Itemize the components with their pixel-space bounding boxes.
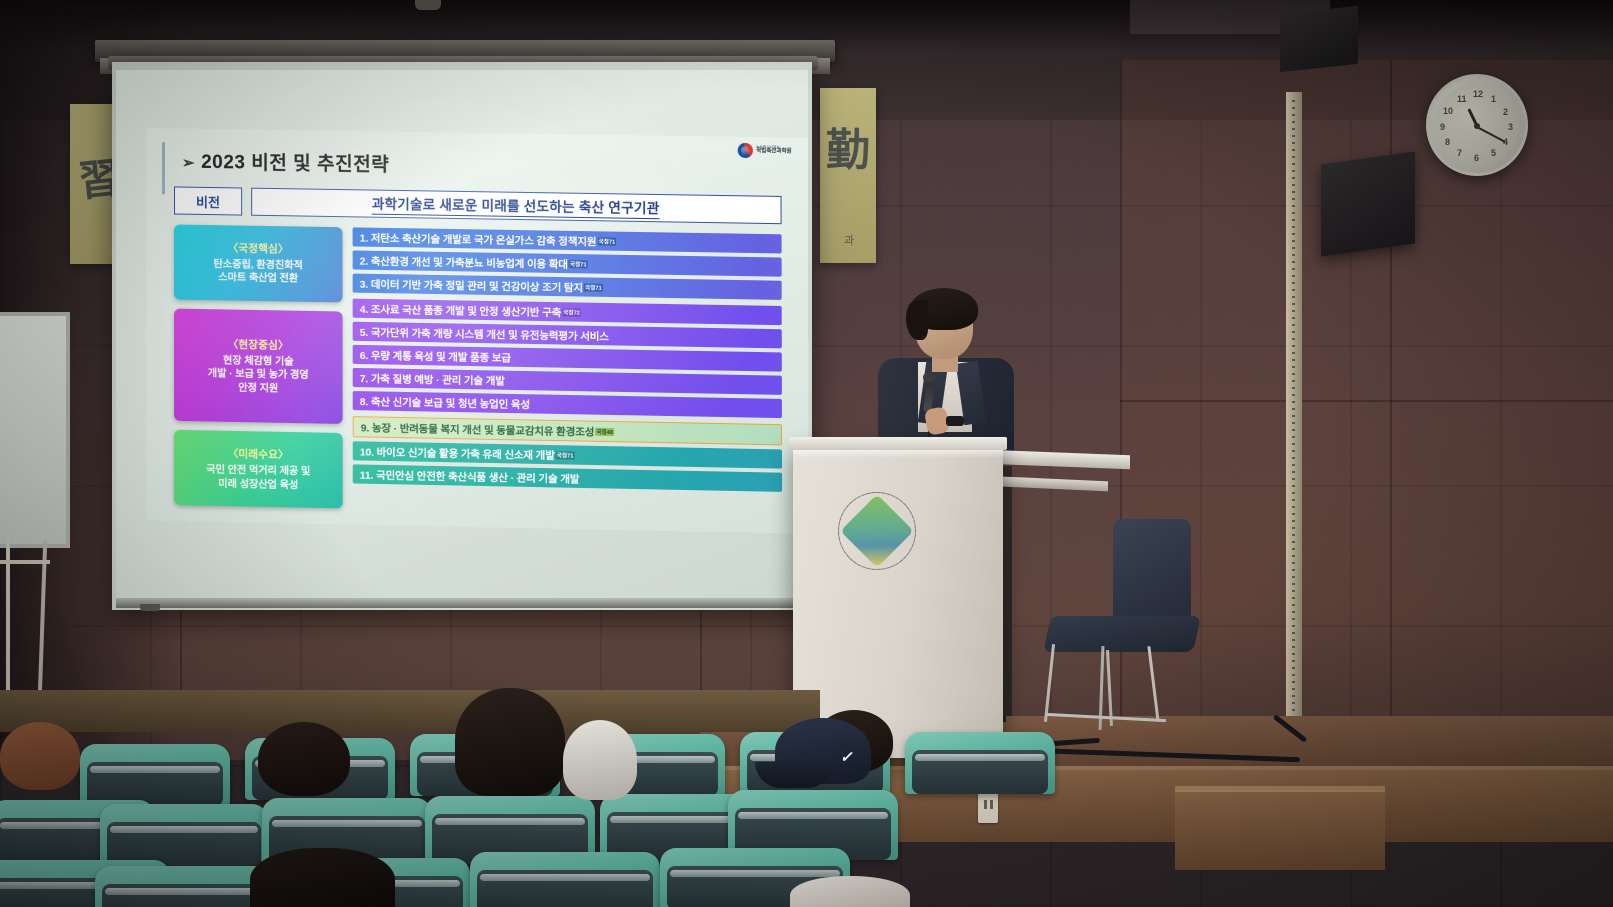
seat-rail xyxy=(110,826,258,833)
strategy-item-text: 3. 데이터 기반 가축 정밀 관리 및 건강이상 조기 탐지 xyxy=(360,276,583,295)
seat xyxy=(905,732,1055,794)
strategy-item: 11. 국민안심 안전한 축산식품 생산 · 관리 기술 개발 xyxy=(353,464,782,492)
taeguk-icon xyxy=(738,143,753,158)
strategy-item-label: 국가단위 가축 개량 시스템 개선 및 유전능력평가 서비스 xyxy=(371,328,609,343)
microphone-head xyxy=(923,372,935,383)
category-line: 개발 · 보급 및 농가 경영 xyxy=(208,368,309,383)
seat xyxy=(470,852,660,907)
lecture-hall-photo: 12 1 2 3 4 5 6 7 8 9 10 11 習 勤 과 xyxy=(0,0,1613,907)
logo-text: 농림축산식품부 국립축산과학원 xyxy=(756,146,791,156)
clock-numeral: 10 xyxy=(1443,106,1453,116)
category-line: 미래 성장산업 육성 xyxy=(218,477,298,492)
clock-numeral: 5 xyxy=(1491,148,1496,158)
strategy-item-sup: 국정48 xyxy=(595,427,614,435)
pole-ticks xyxy=(1292,100,1295,720)
category-box-future-demand: 〈미래수요〉 국민 안전 먹거리 제공 및 미래 성장산업 육성 xyxy=(174,430,343,509)
government-logo: 농림축산식품부 국립축산과학원 xyxy=(738,143,792,159)
strategy-item: 4. 조사료 국산 품종 개발 및 안정 생산기반 구축국정72 xyxy=(353,299,782,326)
category-line: 스마트 축산업 전환 xyxy=(218,272,298,287)
vision-statement-text: 과학기술로 새로운 미래를 선도하는 축산 연구기관 xyxy=(372,193,660,220)
strategy-item-label: 가축 질병 예방 · 관리 기술 개발 xyxy=(371,374,505,388)
category-column: 〈국정핵심〉 탄소중립, 환경친화적 스마트 축산업 전환 〈현장중심〉 현장 … xyxy=(174,224,343,508)
slide-content: 농림축산식품부 국립축산과학원 ➢2023 비전 및 추진전략 비전 과학기술로… xyxy=(146,128,809,534)
seat-rail xyxy=(670,870,840,877)
audience-head-white-cap xyxy=(790,876,910,907)
audience-head xyxy=(250,848,395,907)
slide-title-text: 2023 비전 및 추진전략 xyxy=(201,152,389,176)
strategy-item-text: 10. 바이오 신기술 활용 가축 유래 신소재 개발 xyxy=(360,443,555,462)
stage-step-edge xyxy=(1175,786,1385,792)
seat-rail xyxy=(915,754,1045,761)
screen-weight-bar xyxy=(116,598,808,608)
slide-accent-bar xyxy=(162,142,165,194)
strategy-item: 3. 데이터 기반 가축 정밀 관리 및 건강이상 조기 탐지국정71 xyxy=(353,274,782,300)
wall-seam xyxy=(1120,400,1613,402)
category-header: 〈미래수요〉 xyxy=(228,446,289,462)
presenter-wristwatch xyxy=(946,416,964,426)
seat-rail xyxy=(435,818,585,825)
seat-rail xyxy=(272,820,422,827)
presentation-slide: 농림축산식품부 국립축산과학원 ➢2023 비전 및 추진전략 비전 과학기술로… xyxy=(146,128,809,534)
banner-calligraphy-icon: 勤 xyxy=(826,114,870,178)
screen-pull-tab xyxy=(140,604,160,611)
seat-rail xyxy=(90,766,220,773)
audience-head xyxy=(455,688,565,796)
strategy-item-label: 농장 · 반려동물 복지 개선 및 동물교감치유 환경조성 xyxy=(372,424,594,439)
wall-speaker xyxy=(1321,151,1415,256)
strategy-item: 8. 축산 신기술 보급 및 청년 농업인 육성 xyxy=(353,391,782,418)
strategy-item-label: 데이터 기반 가축 정밀 관리 및 건강이상 조기 탐지 xyxy=(371,280,583,295)
strategy-item-text: 4. 조사료 국산 품종 개발 및 안정 생산기반 구축 xyxy=(360,301,561,320)
strategy-item-text: 7. 가축 질병 예방 · 관리 기술 개발 xyxy=(360,370,505,388)
strategy-item-text: 11. 국민안심 안전한 축산식품 생산 · 관리 기술 개발 xyxy=(360,467,580,486)
strategy-item: 7. 가축 질병 예방 · 관리 기술 개발 xyxy=(353,368,782,395)
strategy-item-label: 축산환경 개선 및 가축분뇨 비농업계 이용 확대 xyxy=(371,257,568,271)
strategy-item-number: 8. xyxy=(360,397,368,408)
projector-mount-icon xyxy=(415,0,441,10)
clock-numeral: 8 xyxy=(1445,137,1450,147)
presenter-hair-side xyxy=(906,300,928,340)
strategy-items-column: 1. 저탄소 축산기술 개발로 국가 온실가스 감축 정책지원국정71 2. 축… xyxy=(353,227,783,517)
strategy-item-number: 4. xyxy=(360,305,368,316)
strategy-item-label: 축산 신기술 보급 및 청년 농업인 육성 xyxy=(371,397,530,411)
category-line: 안정 지원 xyxy=(238,382,278,396)
slide-body: 〈국정핵심〉 탄소중립, 환경친화적 스마트 축산업 전환 〈현장중심〉 현장 … xyxy=(174,224,782,517)
wall-clock: 12 1 2 3 4 5 6 7 8 9 10 11 xyxy=(1426,74,1528,176)
stage-step xyxy=(1175,790,1385,870)
strategy-item-number: 7. xyxy=(360,374,368,385)
strategy-group-field-focus: 4. 조사료 국산 품종 개발 및 안정 생산기반 구축국정72 5. 국가단위… xyxy=(353,299,782,418)
strategy-item-sup: 국정71 xyxy=(584,283,603,291)
bullet-arrow-icon: ➢ xyxy=(182,155,195,172)
audience-head xyxy=(0,722,80,790)
seat-rail xyxy=(738,812,888,819)
vision-tag: 비전 xyxy=(174,186,242,215)
vision-statement-box: 과학기술로 새로운 미래를 선도하는 축산 연구기관 xyxy=(251,188,781,225)
seat xyxy=(80,744,230,806)
vision-row: 비전 과학기술로 새로운 미래를 선도하는 축산 연구기관 xyxy=(174,186,782,224)
clock-numeral: 12 xyxy=(1473,89,1483,99)
whiteboard-crossbar xyxy=(0,560,50,564)
ceiling-speaker xyxy=(1280,6,1358,72)
audience-head-white-cap xyxy=(563,720,637,800)
strategy-item-text: 6. 우량 계통 육성 및 개발 품종 보급 xyxy=(360,347,511,365)
strategy-item-highlighted: 9. 농장 · 반려동물 복지 개선 및 동물교감치유 환경조성국정48 xyxy=(353,416,782,445)
strategy-item-label: 조사료 국산 품종 개발 및 안정 생산기반 구축 xyxy=(371,305,561,319)
clock-numeral: 1 xyxy=(1491,94,1496,104)
strategy-item-number: 3. xyxy=(360,280,368,291)
strategy-item-number: 11. xyxy=(360,471,374,482)
strategy-group-national-core: 1. 저탄소 축산기술 개발로 국가 온실가스 감축 정책지원국정71 2. 축… xyxy=(353,227,782,300)
strategy-item-text: 1. 저탄소 축산기술 개발로 국가 온실가스 감축 정책지원 xyxy=(360,229,597,248)
strategy-item: 2. 축산환경 개선 및 가축분뇨 비농업계 이용 확대국정71 xyxy=(353,250,782,276)
strategy-item-number: 5. xyxy=(360,328,368,339)
strategy-item-label: 우량 계통 육성 및 개발 품종 보급 xyxy=(371,351,511,365)
category-box-field-focus: 〈현장중심〉 현장 체감형 기술 개발 · 보급 및 농가 경영 안정 지원 xyxy=(174,309,343,425)
strategy-item-number: 10. xyxy=(360,447,374,458)
podium-top xyxy=(789,437,1007,450)
stage-chair-seat xyxy=(1043,616,1201,652)
strategy-item-number: 9. xyxy=(361,423,369,434)
stage-chair-back xyxy=(1113,519,1191,629)
category-header: 〈국정핵심〉 xyxy=(228,240,289,256)
clock-center-pin xyxy=(1474,123,1480,129)
seat-rail xyxy=(480,874,650,881)
clock-numeral: 7 xyxy=(1457,148,1462,158)
strategy-item-sup: 국정71 xyxy=(597,237,616,245)
category-box-national-core: 〈국정핵심〉 탄소중립, 환경친화적 스마트 축산업 전환 xyxy=(174,224,343,302)
strategy-item-number: 2. xyxy=(360,257,368,268)
whiteboard xyxy=(0,312,70,548)
strategy-item: 6. 우량 계통 육성 및 개발 품종 보급 xyxy=(353,345,782,372)
podium-bevel xyxy=(793,450,1003,458)
nike-swoosh-icon: ✓ xyxy=(840,752,870,763)
strategy-item-number: 6. xyxy=(360,351,368,362)
strategy-item-sup: 국정72 xyxy=(562,308,581,316)
strategy-item: 10. 바이오 신기술 활용 가축 유래 신소재 개발국정71 xyxy=(353,441,782,468)
clock-numeral: 3 xyxy=(1508,122,1513,132)
clock-numeral: 2 xyxy=(1503,107,1508,117)
strategy-item-label: 국민안심 안전한 축산식품 생산 · 관리 기술 개발 xyxy=(376,471,579,486)
logo-institute: 국립축산과학원 xyxy=(756,150,791,156)
category-header: 〈현장중심〉 xyxy=(228,336,289,352)
category-line: 현장 체감형 기술 xyxy=(223,354,294,369)
banner-caption: 과 xyxy=(822,232,876,248)
clock-numeral: 11 xyxy=(1457,94,1467,104)
strategy-item-text: 2. 축산환경 개선 및 가축분뇨 비농업계 이용 확대 xyxy=(360,253,568,272)
strategy-item-label: 바이오 신기술 활용 가축 유래 신소재 개발 xyxy=(377,448,555,462)
strategy-item-label: 저탄소 축산기술 개발로 국가 온실가스 감축 정책지원 xyxy=(371,234,597,249)
slide-title: ➢2023 비전 및 추진전략 xyxy=(182,147,389,177)
strategy-item-text: 9. 농장 · 반려동물 복지 개선 및 동물교감치유 환경조성 xyxy=(361,419,595,439)
audience-seating: ✓ xyxy=(0,700,1000,907)
clock-numeral: 6 xyxy=(1474,153,1479,163)
emblem-ring xyxy=(838,492,916,570)
wall-seam xyxy=(1120,60,1122,760)
strategy-item-text: 8. 축산 신기술 보급 및 청년 농업인 육성 xyxy=(360,393,530,411)
strategy-item-sup: 국정71 xyxy=(556,451,575,459)
audience-head xyxy=(258,722,350,796)
strategy-item: 5. 국가단위 가축 개량 시스템 개선 및 유전능력평가 서비스 xyxy=(353,322,782,349)
strategy-group-future-demand: 9. 농장 · 반려동물 복지 개선 및 동물교감치유 환경조성국정48 10.… xyxy=(353,416,782,492)
strategy-item: 1. 저탄소 축산기술 개발로 국가 온실가스 감축 정책지원국정71 xyxy=(353,227,782,253)
strategy-item-sup: 국정71 xyxy=(569,260,588,268)
strategy-item-number: 1. xyxy=(360,234,368,245)
clock-numeral: 9 xyxy=(1440,122,1445,132)
strategy-item-text: 5. 국가단위 가축 개량 시스템 개선 및 유전능력평가 서비스 xyxy=(360,324,609,343)
